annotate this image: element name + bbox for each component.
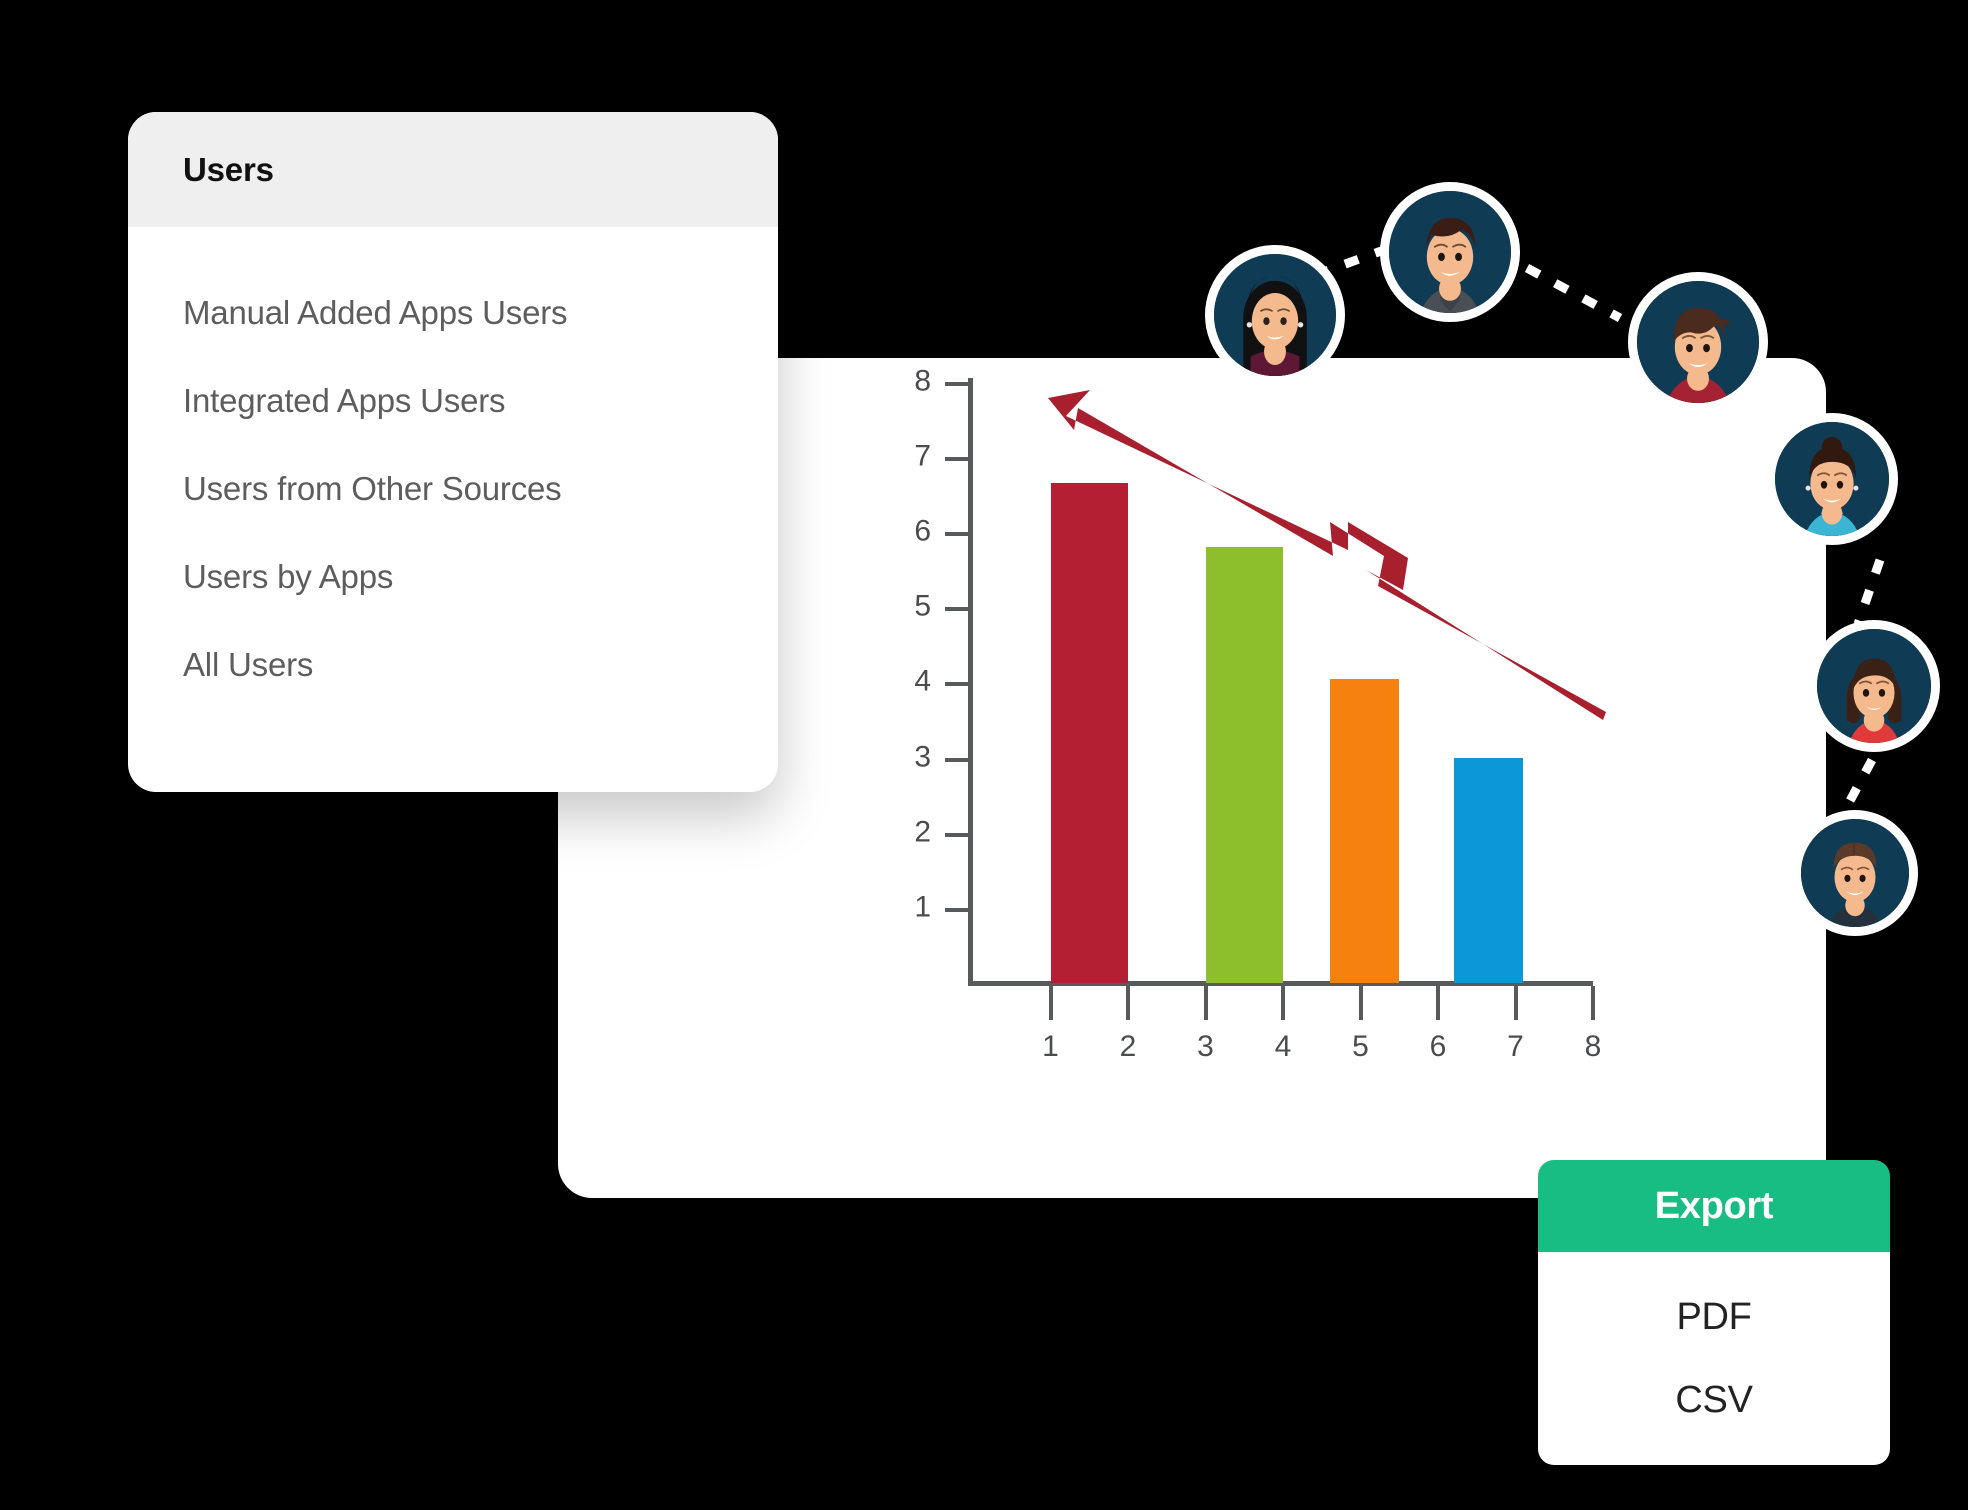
- export-button[interactable]: Export: [1538, 1160, 1890, 1252]
- bars-group: [973, 378, 1593, 983]
- y-tick-1: 1: [945, 908, 969, 912]
- avatar-man-brown-hair-red-shirt[interactable]: [1628, 272, 1768, 412]
- y-tick-label: 4: [914, 667, 931, 697]
- avatar-woman-bun-teal-shirt[interactable]: [1766, 413, 1898, 545]
- y-tick-label: 7: [914, 441, 931, 471]
- users-menu-header: Users: [128, 112, 778, 227]
- x-tick-7: [1514, 986, 1518, 1020]
- avatar-woman-bob-red-top[interactable]: [1808, 620, 1940, 752]
- bar-chart: 12345678 12345678: [898, 368, 1598, 1068]
- y-tick-6: 6: [945, 532, 969, 536]
- y-tick-5: 5: [945, 607, 969, 611]
- menu-item-3[interactable]: Users by Apps: [128, 533, 778, 621]
- x-tick-2: [1126, 986, 1130, 1020]
- users-menu-list: Manual Added Apps UsersIntegrated Apps U…: [128, 227, 778, 709]
- y-tick-2: 2: [945, 833, 969, 837]
- x-tick-5: [1359, 986, 1363, 1020]
- export-panel: Export PDFCSV: [1538, 1160, 1890, 1465]
- x-tick-label: 2: [1120, 1032, 1137, 1062]
- export-label: Export: [1655, 1185, 1774, 1228]
- y-tick-3: 3: [945, 758, 969, 762]
- y-tick-label: 5: [914, 592, 931, 622]
- x-tick-3: [1204, 986, 1208, 1020]
- bar-3: [1330, 679, 1400, 983]
- menu-item-label: Integrated Apps Users: [183, 382, 505, 420]
- export-option-pdf[interactable]: PDF: [1676, 1296, 1751, 1339]
- y-tick-label: 1: [914, 892, 931, 922]
- avatar-man-dark-hair-grey-shirt[interactable]: [1380, 182, 1520, 322]
- avatar-man-short-hair-dark-shirt[interactable]: [1792, 810, 1918, 936]
- y-tick-8: 8: [945, 382, 969, 386]
- menu-item-label: All Users: [183, 646, 313, 684]
- menu-item-0[interactable]: Manual Added Apps Users: [128, 269, 778, 357]
- y-tick-label: 3: [914, 742, 931, 772]
- x-tick-4: [1281, 986, 1285, 1020]
- y-tick-label: 6: [914, 516, 931, 546]
- y-tick-label: 8: [914, 366, 931, 396]
- users-menu-title: Users: [183, 151, 274, 189]
- bar-2: [1206, 547, 1284, 983]
- x-tick-label: 6: [1430, 1032, 1447, 1062]
- x-tick-label: 7: [1507, 1032, 1524, 1062]
- x-tick-8: [1591, 986, 1595, 1020]
- x-tick-label: 1: [1042, 1032, 1059, 1062]
- x-tick-label: 3: [1197, 1032, 1214, 1062]
- y-tick-7: 7: [945, 457, 969, 461]
- menu-item-4[interactable]: All Users: [128, 621, 778, 709]
- menu-item-label: Manual Added Apps Users: [183, 294, 567, 332]
- menu-item-1[interactable]: Integrated Apps Users: [128, 357, 778, 445]
- y-tick-4: 4: [945, 682, 969, 686]
- x-tick-1: [1049, 986, 1053, 1020]
- x-tick-6: [1436, 986, 1440, 1020]
- export-options-list: PDFCSV: [1538, 1252, 1890, 1465]
- menu-item-label: Users by Apps: [183, 558, 393, 596]
- bar-1: [1051, 483, 1129, 983]
- illustration-stage: 12345678 12345678 Users Manual Added App…: [0, 0, 1968, 1510]
- menu-item-label: Users from Other Sources: [183, 470, 561, 508]
- menu-item-2[interactable]: Users from Other Sources: [128, 445, 778, 533]
- users-menu-card: Users Manual Added Apps UsersIntegrated …: [128, 112, 778, 792]
- export-option-csv[interactable]: CSV: [1675, 1379, 1752, 1422]
- x-tick-label: 5: [1352, 1032, 1369, 1062]
- avatar-woman-long-black-hair[interactable]: [1205, 245, 1345, 385]
- y-tick-label: 2: [914, 817, 931, 847]
- x-tick-label: 4: [1275, 1032, 1292, 1062]
- bar-4: [1454, 758, 1524, 983]
- x-tick-label: 8: [1585, 1032, 1602, 1062]
